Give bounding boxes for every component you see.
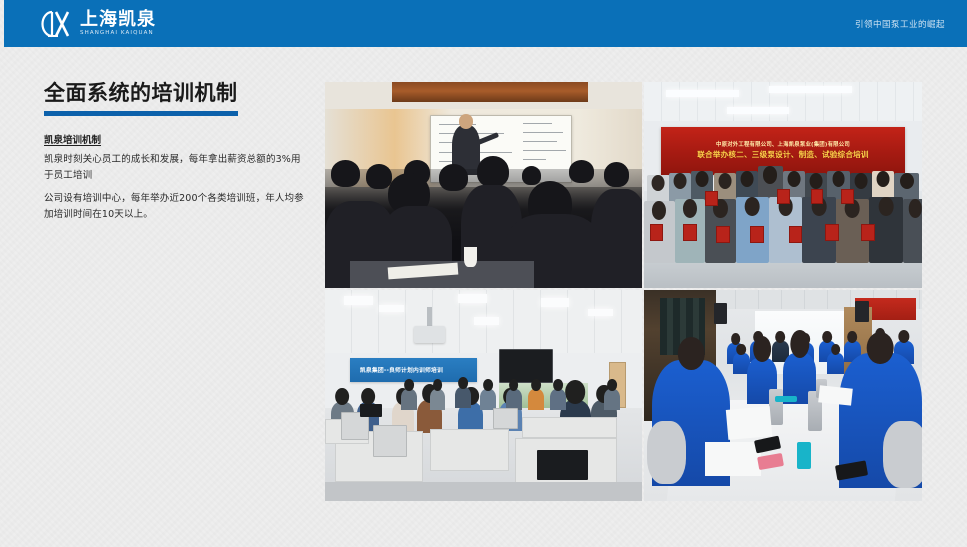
paper-cup (464, 247, 477, 268)
floor-area (644, 259, 922, 288)
section-subheading: 凯泉培训机制 (44, 134, 306, 148)
photo-gallery: 中原对外工程有限公司、上海凯泉泵业(集团)有限公司 联合举办核二、三级泵设计、制… (325, 82, 922, 503)
wood-beam (392, 82, 589, 102)
header-tagline: 引领中国泵工业的崛起 (855, 0, 945, 47)
ceiling-projector (414, 326, 446, 343)
computer-training-room-photo[interactable]: 凯泉集团--良师计划内训师培训 (325, 290, 642, 501)
banner-line-1: 中原对外工程有限公司、上海凯泉泵业(集团)有限公司 (716, 142, 850, 149)
group-certificate-photo[interactable]: 中原对外工程有限公司、上海凯泉泵业(集团)有限公司 联合举办核二、三级泵设计、制… (644, 82, 922, 288)
wall-tv-screen (499, 349, 553, 383)
brand-name-cn: 上海凯泉 (80, 10, 156, 29)
slide-header: 上海凯泉 SHANGHAI KAIQUAN 引领中国泵工业的崛起 (4, 0, 967, 47)
floor-area (325, 482, 642, 501)
slide-canvas: 上海凯泉 SHANGHAI KAIQUAN 引领中国泵工业的崛起 全面系统的培训… (0, 0, 967, 547)
banner-line-2: 联合举办核二、三级泵设计、制造、试验综合培训 (697, 150, 868, 160)
brand-logo-text: 上海凯泉 SHANGHAI KAIQUAN (80, 10, 156, 37)
lecture-hall-photo[interactable] (325, 82, 642, 288)
body-paragraph-1: 凯泉时刻关心员工的成长和发展，每年拿出薪资总额的3%用于员工培训 (44, 152, 306, 183)
brand-logo[interactable]: 上海凯泉 SHANGHAI KAIQUAN (40, 9, 156, 39)
title-underline-rule (44, 111, 238, 116)
text-column: 全面系统的培训机制 凯泉培训机制 凯泉时刻关心员工的成长和发展，每年拿出薪资总额… (44, 80, 306, 222)
blue-uniform-workshop-photo[interactable] (644, 290, 922, 501)
projector-mount (427, 307, 431, 328)
page-title: 全面系统的培训机制 (44, 80, 306, 106)
banner-text: 凯泉集团--良师计划内训师培训 (360, 365, 443, 374)
red-event-banner: 中原对外工程有限公司、上海凯泉泵业(集团)有限公司 联合举办核二、三级泵设计、制… (661, 127, 906, 174)
brand-name-en: SHANGHAI KAIQUAN (80, 29, 156, 37)
kaiquan-logo-icon (40, 9, 74, 39)
body-paragraph-2: 公司设有培训中心，每年举办近200个各类培训班，年人均参加培训时间在10天以上。 (44, 191, 306, 222)
